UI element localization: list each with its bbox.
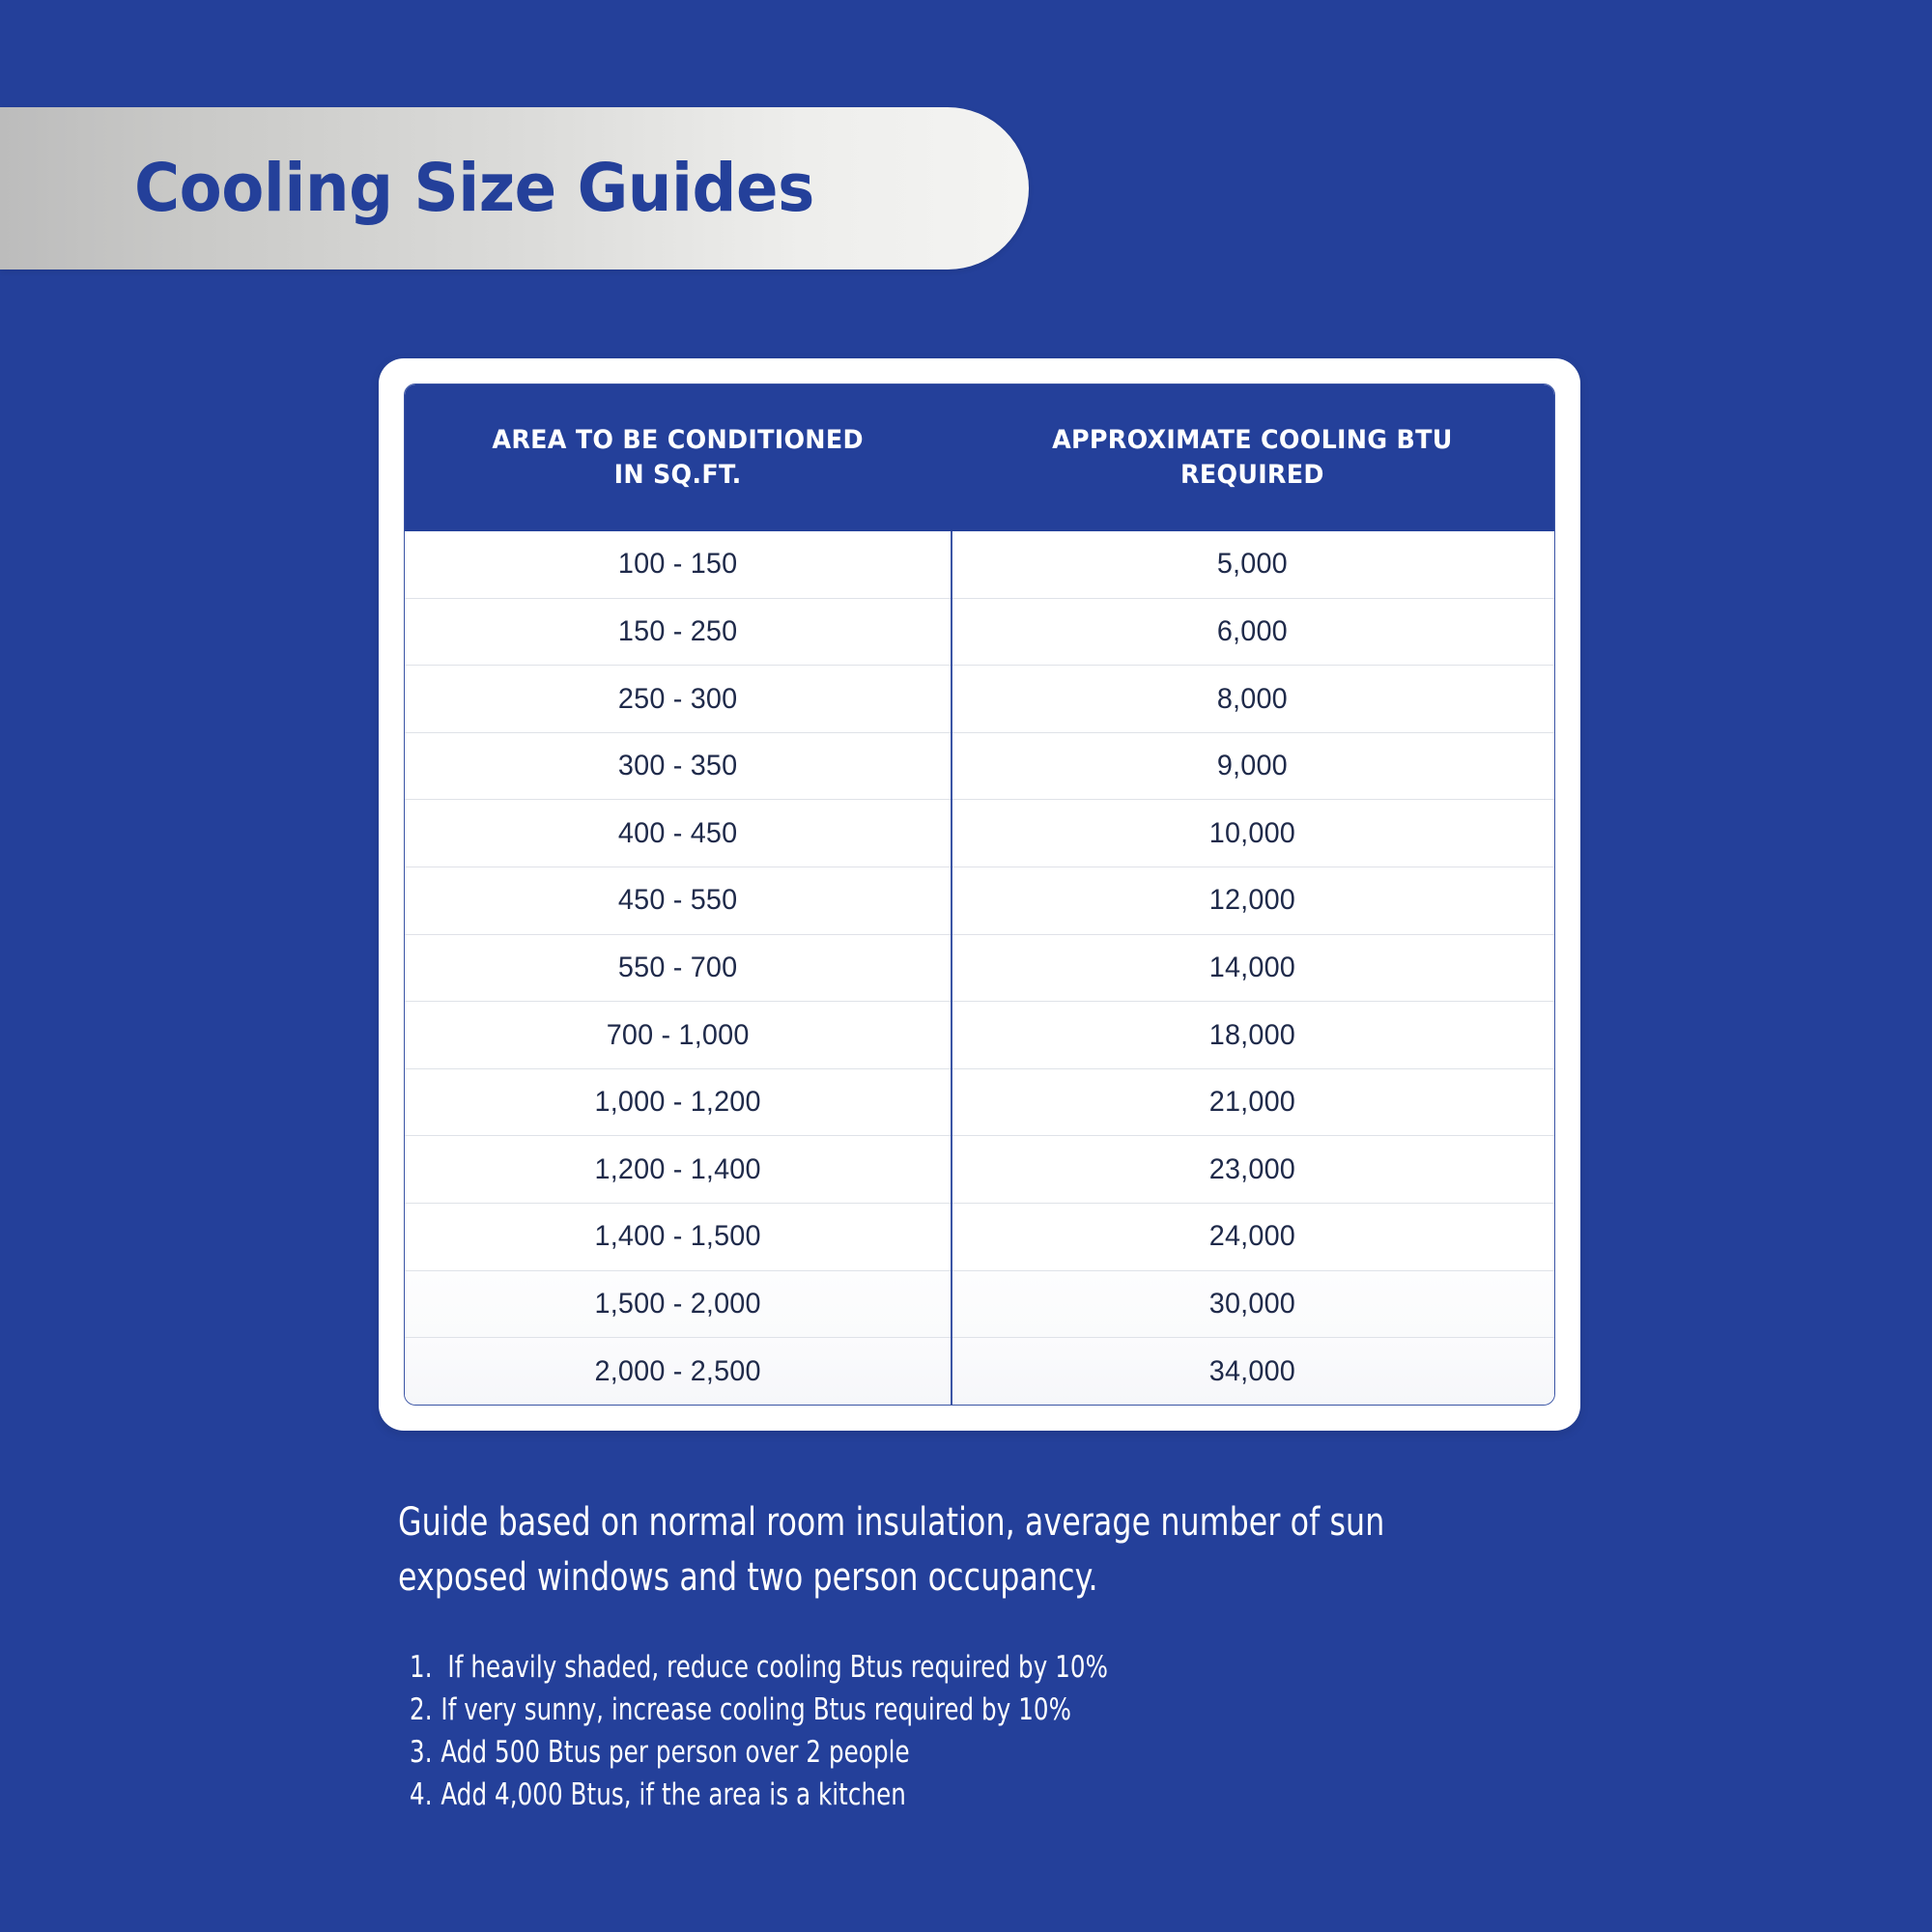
- cooling-size-table-card: AREA TO BE CONDITIONED IN SQ.FT. APPROXI…: [379, 358, 1580, 1431]
- note-item: 2. If very sunny, increase cooling Btus …: [410, 1689, 1445, 1731]
- table-row: 2,000 - 2,500 34,000: [405, 1337, 1554, 1405]
- table-header-btu-line2: REQUIRED: [1180, 460, 1324, 490]
- cell-area: 250 - 300: [415, 666, 940, 732]
- cell-btu: 5,000: [963, 531, 1543, 598]
- table-header-row: AREA TO BE CONDITIONED IN SQ.FT. APPROXI…: [405, 384, 1554, 531]
- note-number: 1.: [410, 1646, 433, 1689]
- table-header-btu-line1: APPROXIMATE COOLING BTU: [1052, 425, 1453, 455]
- note-text: If very sunny, increase cooling Btus req…: [440, 1689, 1071, 1731]
- cell-area: 1,500 - 2,000: [415, 1271, 940, 1338]
- table-row: 300 - 350 9,000: [405, 732, 1554, 800]
- note-text: Add 500 Btus per person over 2 people: [440, 1731, 909, 1774]
- table-row: 1,500 - 2,000 30,000: [405, 1270, 1554, 1338]
- table-header-btu: APPROXIMATE COOLING BTU REQUIRED: [969, 384, 1536, 531]
- note-number: 2.: [410, 1689, 433, 1731]
- cell-area: 450 - 550: [415, 867, 940, 934]
- table-row: 550 - 700 14,000: [405, 934, 1554, 1002]
- cooling-size-table: AREA TO BE CONDITIONED IN SQ.FT. APPROXI…: [404, 384, 1555, 1406]
- table-row: 1,000 - 1,200 21,000: [405, 1068, 1554, 1136]
- cell-area: 1,200 - 1,400: [415, 1136, 940, 1203]
- cell-btu: 24,000: [963, 1204, 1543, 1270]
- note-text: If heavily shaded, reduce cooling Btus r…: [447, 1646, 1108, 1689]
- cell-btu: 14,000: [963, 935, 1543, 1002]
- cell-btu: 34,000: [963, 1338, 1543, 1405]
- cell-btu: 12,000: [963, 867, 1543, 934]
- cell-area: 550 - 700: [415, 935, 940, 1002]
- table-row: 450 - 550 12,000: [405, 867, 1554, 934]
- note-item: 4. Add 4,000 Btus, if the area is a kitc…: [410, 1774, 1445, 1816]
- table-row: 1,400 - 1,500 24,000: [405, 1203, 1554, 1270]
- cell-area: 100 - 150: [415, 531, 940, 598]
- cell-area: 150 - 250: [415, 599, 940, 666]
- cell-btu: 30,000: [963, 1271, 1543, 1338]
- table-header-area: AREA TO BE CONDITIONED IN SQ.FT.: [421, 384, 934, 531]
- cell-btu: 10,000: [963, 800, 1543, 867]
- note-item: 3. Add 500 Btus per person over 2 people: [410, 1731, 1445, 1774]
- note-text: Add 4,000 Btus, if the area is a kitchen: [440, 1774, 906, 1816]
- table-row: 250 - 300 8,000: [405, 665, 1554, 732]
- cell-area: 400 - 450: [415, 800, 940, 867]
- table-header-area-line1: AREA TO BE CONDITIONED: [492, 425, 863, 455]
- title-banner: Cooling Size Guides: [0, 107, 1029, 270]
- column-divider: [951, 384, 952, 1405]
- table-row: 400 - 450 10,000: [405, 799, 1554, 867]
- cell-area: 1,000 - 1,200: [415, 1069, 940, 1136]
- footer-lead-text: Guide based on normal room insulation, a…: [398, 1495, 1443, 1605]
- table-body: 100 - 150 5,000 150 - 250 6,000 250 - 30…: [405, 531, 1554, 1405]
- note-number: 3.: [410, 1731, 433, 1774]
- cell-area: 300 - 350: [415, 733, 940, 800]
- footer-notes: Guide based on normal room insulation, a…: [398, 1495, 1586, 1816]
- cell-btu: 9,000: [963, 733, 1543, 800]
- cell-area: 2,000 - 2,500: [415, 1338, 940, 1405]
- cell-btu: 8,000: [963, 666, 1543, 732]
- note-number: 4.: [410, 1774, 433, 1816]
- notes-list: 1. If heavily shaded, reduce cooling Btu…: [410, 1646, 1586, 1816]
- cell-area: 700 - 1,000: [415, 1002, 940, 1068]
- cell-btu: 23,000: [963, 1136, 1543, 1203]
- table-row: 150 - 250 6,000: [405, 598, 1554, 666]
- note-item: 1. If heavily shaded, reduce cooling Btu…: [410, 1646, 1445, 1689]
- cell-area: 1,400 - 1,500: [415, 1204, 940, 1270]
- cell-btu: 18,000: [963, 1002, 1543, 1068]
- table-row: 1,200 - 1,400 23,000: [405, 1135, 1554, 1203]
- cell-btu: 6,000: [963, 599, 1543, 666]
- page-title: Cooling Size Guides: [134, 156, 814, 222]
- table-row: 700 - 1,000 18,000: [405, 1001, 1554, 1068]
- table-header-area-line2: IN SQ.FT.: [614, 460, 742, 490]
- cell-btu: 21,000: [963, 1069, 1543, 1136]
- table-row: 100 - 150 5,000: [405, 531, 1554, 598]
